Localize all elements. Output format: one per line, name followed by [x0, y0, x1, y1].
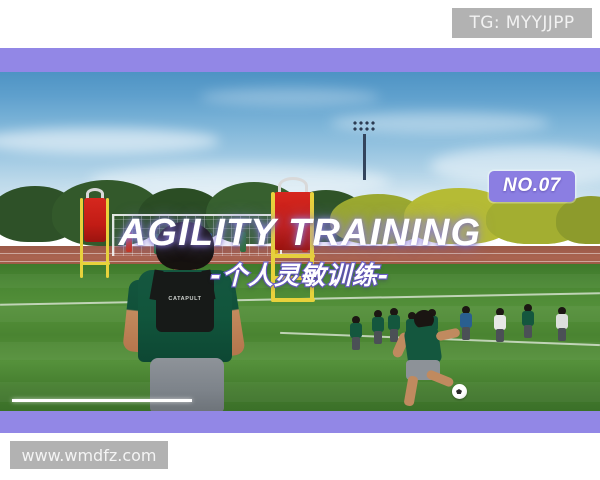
- telegram-watermark: TG: MYYJJPP: [452, 8, 592, 38]
- issue-number-text: NO.07: [503, 175, 561, 196]
- floodlight-mast-icon: [352, 120, 378, 180]
- poster-photo: CATAPULT NO.07 AGILITY TRAINING -个人灵敏训练-…: [0, 72, 600, 412]
- poster-canvas: TG: MYYJJPP: [0, 0, 600, 480]
- player-torso: [494, 315, 506, 330]
- floodlight-head: [352, 120, 378, 135]
- site-watermark-text: www.wmdfz.com: [22, 446, 157, 465]
- player-legs: [352, 337, 360, 350]
- player-torso: [350, 323, 362, 338]
- player-legs: [374, 331, 382, 344]
- player-torso: [522, 311, 534, 326]
- background-player: [494, 308, 506, 342]
- player-leg: [425, 369, 454, 388]
- kicking-player: [392, 310, 462, 400]
- bag-frame-rung: [271, 298, 315, 302]
- soccer-ball: [452, 384, 467, 399]
- mow-stripe: [0, 306, 600, 322]
- background-player: [522, 304, 534, 338]
- background-player: [372, 310, 384, 344]
- headline-title: AGILITY TRAINING: [0, 211, 600, 255]
- player-shorts: [150, 358, 224, 412]
- player-legs: [558, 328, 566, 341]
- player-legs: [462, 327, 470, 340]
- player-arm: [435, 328, 460, 342]
- caption-divider-rule: [12, 399, 192, 402]
- issue-number-badge: NO.07: [489, 171, 575, 202]
- mow-stripe: [0, 342, 600, 360]
- cloud: [0, 128, 220, 154]
- background-player: [556, 307, 568, 341]
- background-player: [350, 316, 362, 350]
- player-torso: [372, 317, 384, 332]
- player-torso: [556, 314, 568, 329]
- site-watermark: www.wmdfz.com: [10, 441, 168, 469]
- player-legs: [524, 325, 532, 338]
- headline-subtitle: -个人灵敏训练-: [0, 261, 600, 291]
- frame-band-top: [0, 48, 600, 73]
- floodlight-pole: [363, 134, 366, 180]
- telegram-watermark-text: TG: MYYJJPP: [469, 13, 574, 33]
- cloud: [200, 88, 380, 106]
- frame-band-bottom: [0, 411, 600, 433]
- vest-brand-label: CATAPULT: [160, 296, 210, 302]
- player-legs: [496, 329, 504, 342]
- poster-headline: AGILITY TRAINING -个人灵敏训练-: [0, 211, 600, 291]
